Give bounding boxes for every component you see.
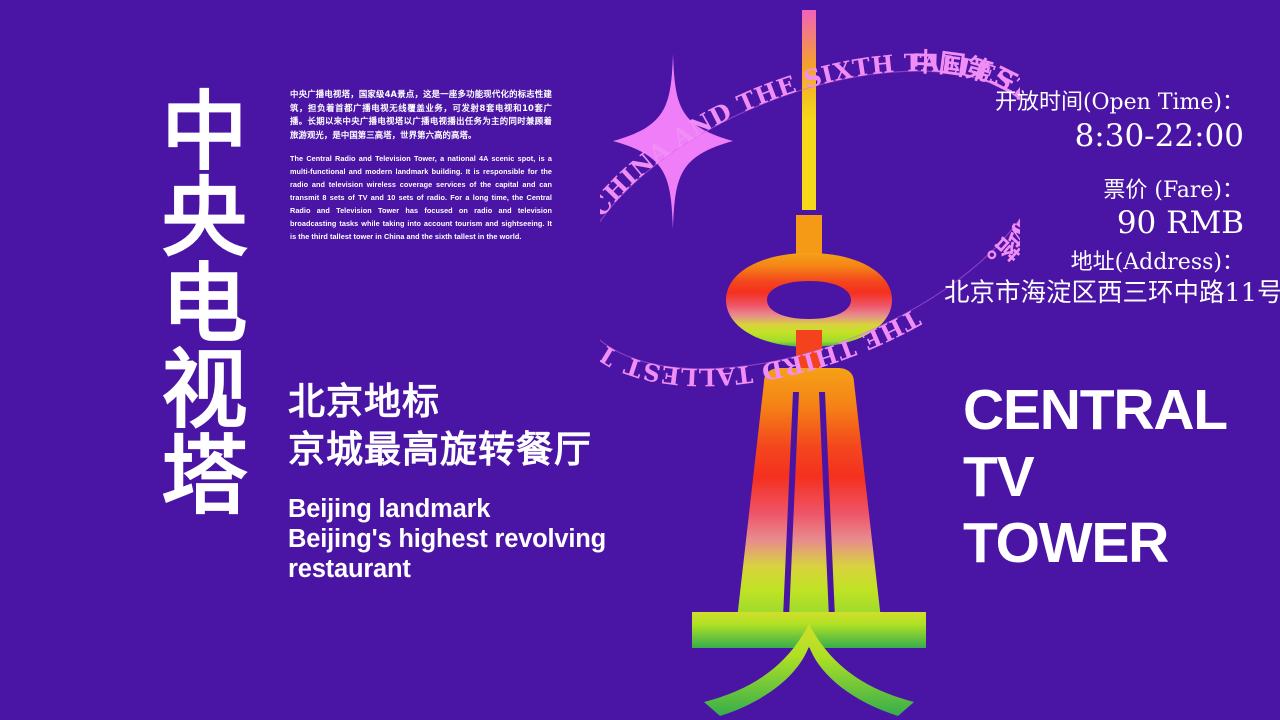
address-group: 地址(Address)： 北京市海淀区西三环中路11号	[944, 248, 1244, 310]
open-time-value: 8:30-22:00	[944, 118, 1244, 156]
page-title-vertical: 中央电视塔	[128, 86, 238, 516]
tower-observation-pod	[726, 253, 892, 347]
description-block: 中央广播电视塔，国家级4A景点，这是一座多功能现代化的标志性建筑，担负着首都广播…	[290, 88, 552, 244]
headline-chinese: 北京地标 京城最高旋转餐厅	[288, 378, 688, 474]
description-english: The Central Radio and Television Tower, …	[290, 153, 552, 244]
poster-canvas: 中央电视塔 中央广播电视塔，国家级4A景点，这是一座多功能现代化的标志性建筑，担…	[0, 0, 1280, 720]
fare-value: 90 RMB	[944, 205, 1244, 243]
fare-label: 票价 (Fare)：	[944, 176, 1244, 206]
open-time-label: 开放时间(Open Time)：	[944, 88, 1244, 118]
sparkle-star-icon	[613, 54, 733, 229]
headline-block: 北京地标 京城最高旋转餐厅 Beijing landmark Beijing's…	[288, 378, 688, 584]
tower-antenna	[802, 10, 816, 210]
tower-main-body	[736, 368, 882, 628]
fare-group: 票价 (Fare)： 90 RMB	[944, 176, 1244, 244]
headline-english: Beijing landmark Beijing's highest revol…	[288, 494, 688, 584]
address-label: 地址(Address)：	[944, 248, 1244, 278]
open-time-group: 开放时间(Open Time)： 8:30-22:00	[944, 88, 1244, 156]
visitor-info-block: 开放时间(Open Time)： 8:30-22:00 票价 (Fare)： 9…	[944, 88, 1244, 310]
tower-body-slot-right	[819, 392, 835, 618]
address-value: 北京市海淀区西三环中路11号	[944, 278, 1244, 310]
big-title-english: CENTRAL TV TOWER	[963, 377, 1227, 577]
tower-shaft-upper	[796, 330, 822, 382]
tower-base-legs	[704, 624, 914, 716]
description-chinese: 中央广播电视塔，国家级4A景点，这是一座多功能现代化的标志性建筑，担负着首都广播…	[290, 88, 552, 142]
tower-neck-upper	[796, 215, 822, 273]
tower-base-platform	[692, 612, 926, 648]
tower-body-slot-left	[783, 392, 799, 618]
